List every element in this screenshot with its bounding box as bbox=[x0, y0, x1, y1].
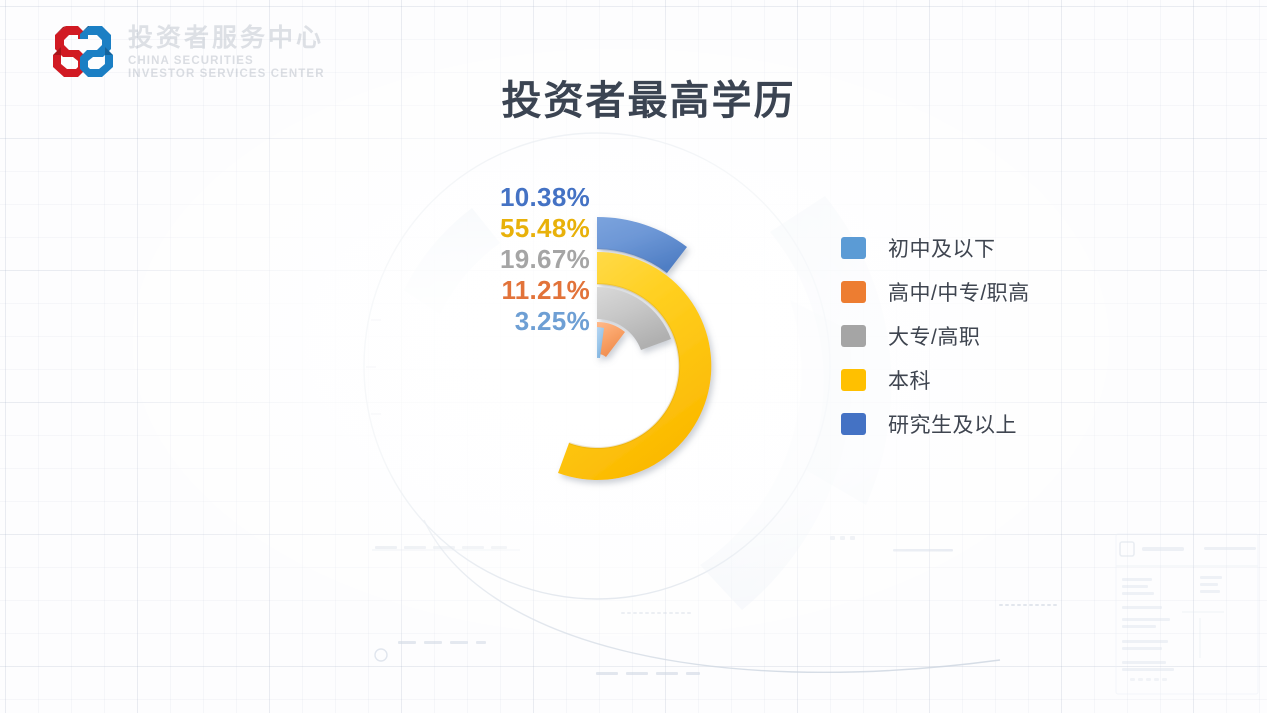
decor-corner-document-svg bbox=[1112, 530, 1262, 705]
legend-item-middleschool[interactable]: 初中及以下 bbox=[841, 226, 1030, 270]
legend-item-college[interactable]: 大专/高职 bbox=[841, 314, 1030, 358]
legend-label-middleschool: 初中及以下 bbox=[888, 233, 996, 263]
legend-swatch-middleschool bbox=[841, 237, 866, 259]
legend-swatch-highschool bbox=[841, 281, 866, 303]
decor-corner-document bbox=[1112, 530, 1262, 705]
chart-legend: 初中及以下 高中/中专/职高 大专/高职 本科 研究生及以上 bbox=[841, 226, 1030, 446]
logo-chinese-name: 投资者服务中心 bbox=[128, 26, 325, 51]
slide-canvas: 投资者服务中心 CHINA SECURITIES INVESTOR SERVIC… bbox=[0, 0, 1267, 713]
legend-label-college: 大专/高职 bbox=[888, 321, 980, 351]
percent-label-graduate: 10.38% bbox=[418, 182, 590, 213]
legend-item-graduate[interactable]: 研究生及以上 bbox=[841, 402, 1030, 446]
radial-bar-chart bbox=[300, 100, 900, 640]
legend-swatch-college bbox=[841, 325, 866, 347]
radial-bar-chart-svg bbox=[300, 100, 900, 640]
percent-label-column: 10.38% 55.48% 19.67% 11.21% 3.25% bbox=[418, 182, 590, 337]
legend-label-graduate: 研究生及以上 bbox=[888, 409, 1017, 439]
legend-item-highschool[interactable]: 高中/中专/职高 bbox=[841, 270, 1030, 314]
legend-swatch-graduate bbox=[841, 413, 866, 435]
percent-label-middleschool: 3.25% bbox=[418, 306, 590, 337]
legend-swatch-bachelor bbox=[841, 369, 866, 391]
legend-label-bachelor: 本科 bbox=[888, 365, 931, 395]
percent-label-college: 19.67% bbox=[418, 244, 590, 275]
percent-label-highschool: 11.21% bbox=[418, 275, 590, 306]
logo-english-line1: CHINA SECURITIES bbox=[128, 56, 325, 68]
percent-label-bachelor: 55.48% bbox=[418, 213, 590, 244]
legend-item-bachelor[interactable]: 本科 bbox=[841, 358, 1030, 402]
legend-label-highschool: 高中/中专/职高 bbox=[888, 277, 1030, 307]
